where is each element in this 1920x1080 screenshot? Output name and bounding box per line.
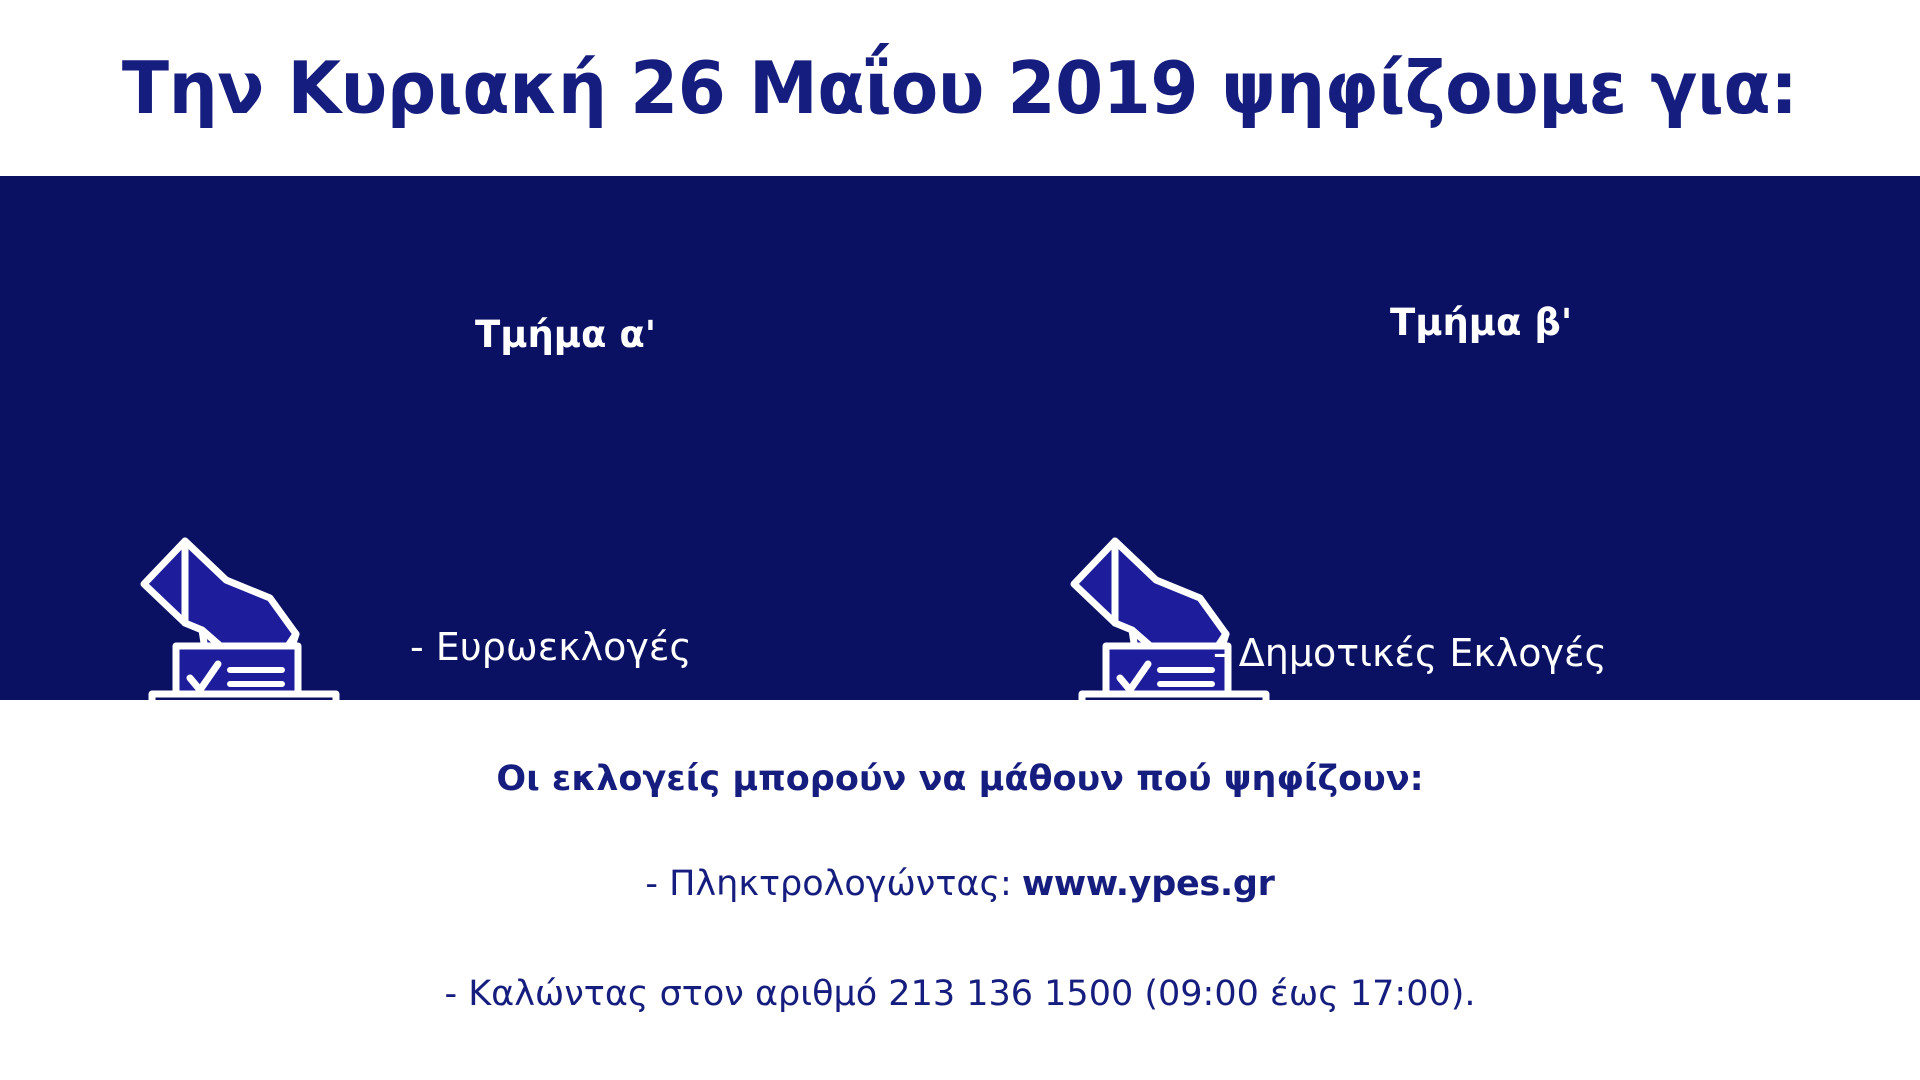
ballot-box-icon (130, 506, 370, 700)
ypes-website-link[interactable]: www.ypes.gr (1022, 867, 1275, 902)
footer-web-label: - Πληκτρολογώντας: (645, 867, 1011, 902)
section-title-tmima-a: Τμήμα α' (475, 316, 656, 353)
election-info-poster: Την Κυριακή 26 Μαΐου 2019 ψηφίζουμε για:… (0, 0, 1920, 1080)
column-tmima-a: Τμήμα α' (0, 176, 960, 700)
list-item: - Δημοτικές Εκλογές (1213, 634, 1607, 672)
footer-heading: Οι εκλογείς μπορούν να μάθουν πού ψηφίζο… (496, 762, 1423, 797)
section-title-tmima-b: Τμήμα β' (1390, 304, 1572, 341)
header-band: Την Κυριακή 26 Μαΐου 2019 ψηφίζουμε για: (0, 0, 1920, 176)
page-title: Την Κυριακή 26 Μαΐου 2019 ψηφίζουμε για: (122, 52, 1798, 124)
footer-phone-label: - Καλώντας στον αριθμό 213 136 1500 (09:… (444, 977, 1475, 1012)
column-tmima-b: Τμήμα β' - Δημοτικές Εκλογές - Κοινοτικέ… (960, 176, 1920, 700)
footer-band: Οι εκλογείς μπορούν να μάθουν πού ψηφίζο… (0, 700, 1920, 1080)
elections-navy-band: Τμήμα α' (0, 176, 1920, 700)
list-item: - Ευρωεκλογές (410, 628, 692, 666)
footer-web-row: - Πληκτρολογώντας: www.ypes.gr (645, 867, 1274, 902)
footer-phone-row: - Καλώντας στον αριθμό 213 136 1500 (09:… (444, 977, 1475, 1012)
